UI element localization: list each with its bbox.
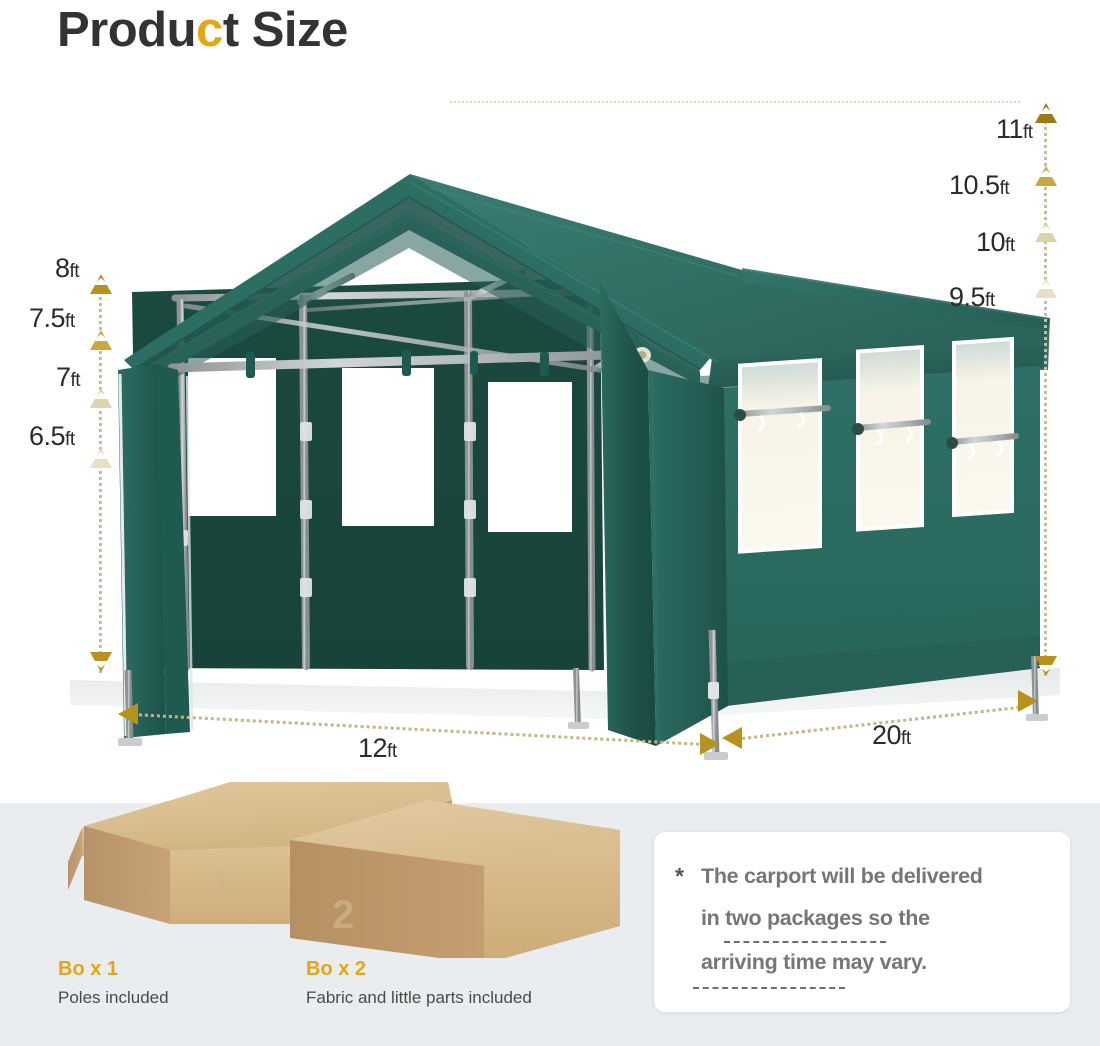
dim-left-7_5ft: 7.5ft [29, 303, 75, 334]
note-line-1: The carport will be delivered [701, 864, 983, 889]
arrow-left-12ft [118, 703, 138, 725]
dim-left-7ft-unit: ft [71, 370, 81, 391]
dim-right-10_5ft-value: 10.5 [949, 170, 1000, 200]
arrow-up-6_5ft [90, 448, 112, 468]
page-title-post: t Size [223, 3, 348, 57]
dim-width-12ft-unit: ft [387, 741, 397, 762]
arrow-up-8ft [90, 274, 112, 294]
side-window-1 [738, 358, 822, 554]
package-boxes-illustration: 1 2 [60, 778, 620, 958]
dim-width-12ft: 12ft [358, 733, 397, 764]
arrow-up-10ft [1035, 222, 1057, 242]
dim-left-7ft: 7ft [56, 362, 80, 393]
package-2-subtitle: Fabric and little parts included [306, 988, 532, 1008]
note-underline-2 [693, 987, 845, 989]
dim-right-10ft: 10ft [976, 227, 1015, 258]
note-underline-1 [724, 941, 886, 943]
dim-length-20ft: 20ft [872, 720, 911, 751]
dim-right-10_5ft: 10.5ft [949, 170, 1009, 201]
page-title-accent: c [196, 3, 223, 57]
dim-left-6_5ft-value: 6.5 [29, 421, 65, 451]
package-caption-1: Bo x 1 Poles included [58, 958, 169, 1008]
dim-left-8ft-unit: ft [70, 261, 80, 282]
product-illustration: 8ft 7.5ft 7ft 6.5ft 11ft 10.5ft 10ft 9.5… [0, 70, 1100, 810]
arrow-right-12ft [700, 733, 720, 755]
package-1-title: Bo x 1 [58, 958, 169, 981]
dim-right-10ft-unit: ft [1005, 235, 1015, 256]
arrow-down-right-base [1035, 656, 1057, 676]
note-line-2: in two packages so the [701, 906, 930, 931]
side-window-3 [952, 337, 1014, 517]
dim-right-11ft-unit: ft [1023, 122, 1033, 143]
right-dimension-guide [1044, 108, 1047, 676]
note-line-3: arriving time may vary. [701, 950, 927, 975]
arrow-up-10_5ft [1035, 166, 1057, 186]
dim-left-7ft-value: 7 [56, 362, 71, 392]
page-title-pre: Produ [57, 3, 196, 57]
dim-left-7_5ft-value: 7.5 [29, 303, 65, 333]
dim-left-8ft: 8ft [55, 253, 79, 284]
dim-right-10ft-value: 10 [976, 227, 1005, 257]
arrow-down-left-base [90, 652, 112, 672]
dim-width-12ft-value: 12 [358, 733, 387, 763]
arrow-left-20ft [722, 727, 742, 749]
dim-right-9_5ft: 9.5ft [949, 282, 995, 313]
roof-peak-guide [450, 101, 1020, 103]
dim-right-11ft-value: 11 [996, 114, 1023, 144]
dim-length-20ft-value: 20 [872, 720, 901, 750]
package-2-title: Bo x 2 [306, 958, 532, 981]
carport-illustration [0, 70, 1100, 810]
dim-right-11ft: 11ft [996, 114, 1033, 145]
dim-right-10_5ft-unit: ft [1000, 178, 1010, 199]
dim-left-6_5ft-unit: ft [65, 429, 75, 450]
arrow-up-9_5ft [1035, 278, 1057, 298]
page-title: Product Size [57, 2, 348, 58]
dim-length-20ft-unit: ft [901, 728, 911, 749]
dim-left-6_5ft: 6.5ft [29, 421, 75, 452]
arrow-up-7ft [90, 388, 112, 408]
arrow-up-7_5ft [90, 330, 112, 350]
arrow-up-11ft [1035, 103, 1057, 123]
delivery-note-card: * The carport will be delivered in two p… [654, 832, 1070, 1012]
dim-right-9_5ft-unit: ft [985, 290, 995, 311]
package-1-subtitle: Poles included [58, 988, 169, 1008]
dim-left-7_5ft-unit: ft [65, 311, 75, 332]
side-window-2 [856, 345, 924, 532]
dim-left-8ft-value: 8 [55, 253, 70, 283]
dim-right-9_5ft-value: 9.5 [949, 282, 985, 312]
arrow-right-20ft [1018, 690, 1038, 712]
package-caption-2: Bo x 2 Fabric and little parts included [306, 958, 532, 1008]
box-1-number: 1 [210, 863, 232, 907]
box-2-number: 2 [332, 893, 354, 937]
note-bullet-icon: * [675, 865, 684, 888]
